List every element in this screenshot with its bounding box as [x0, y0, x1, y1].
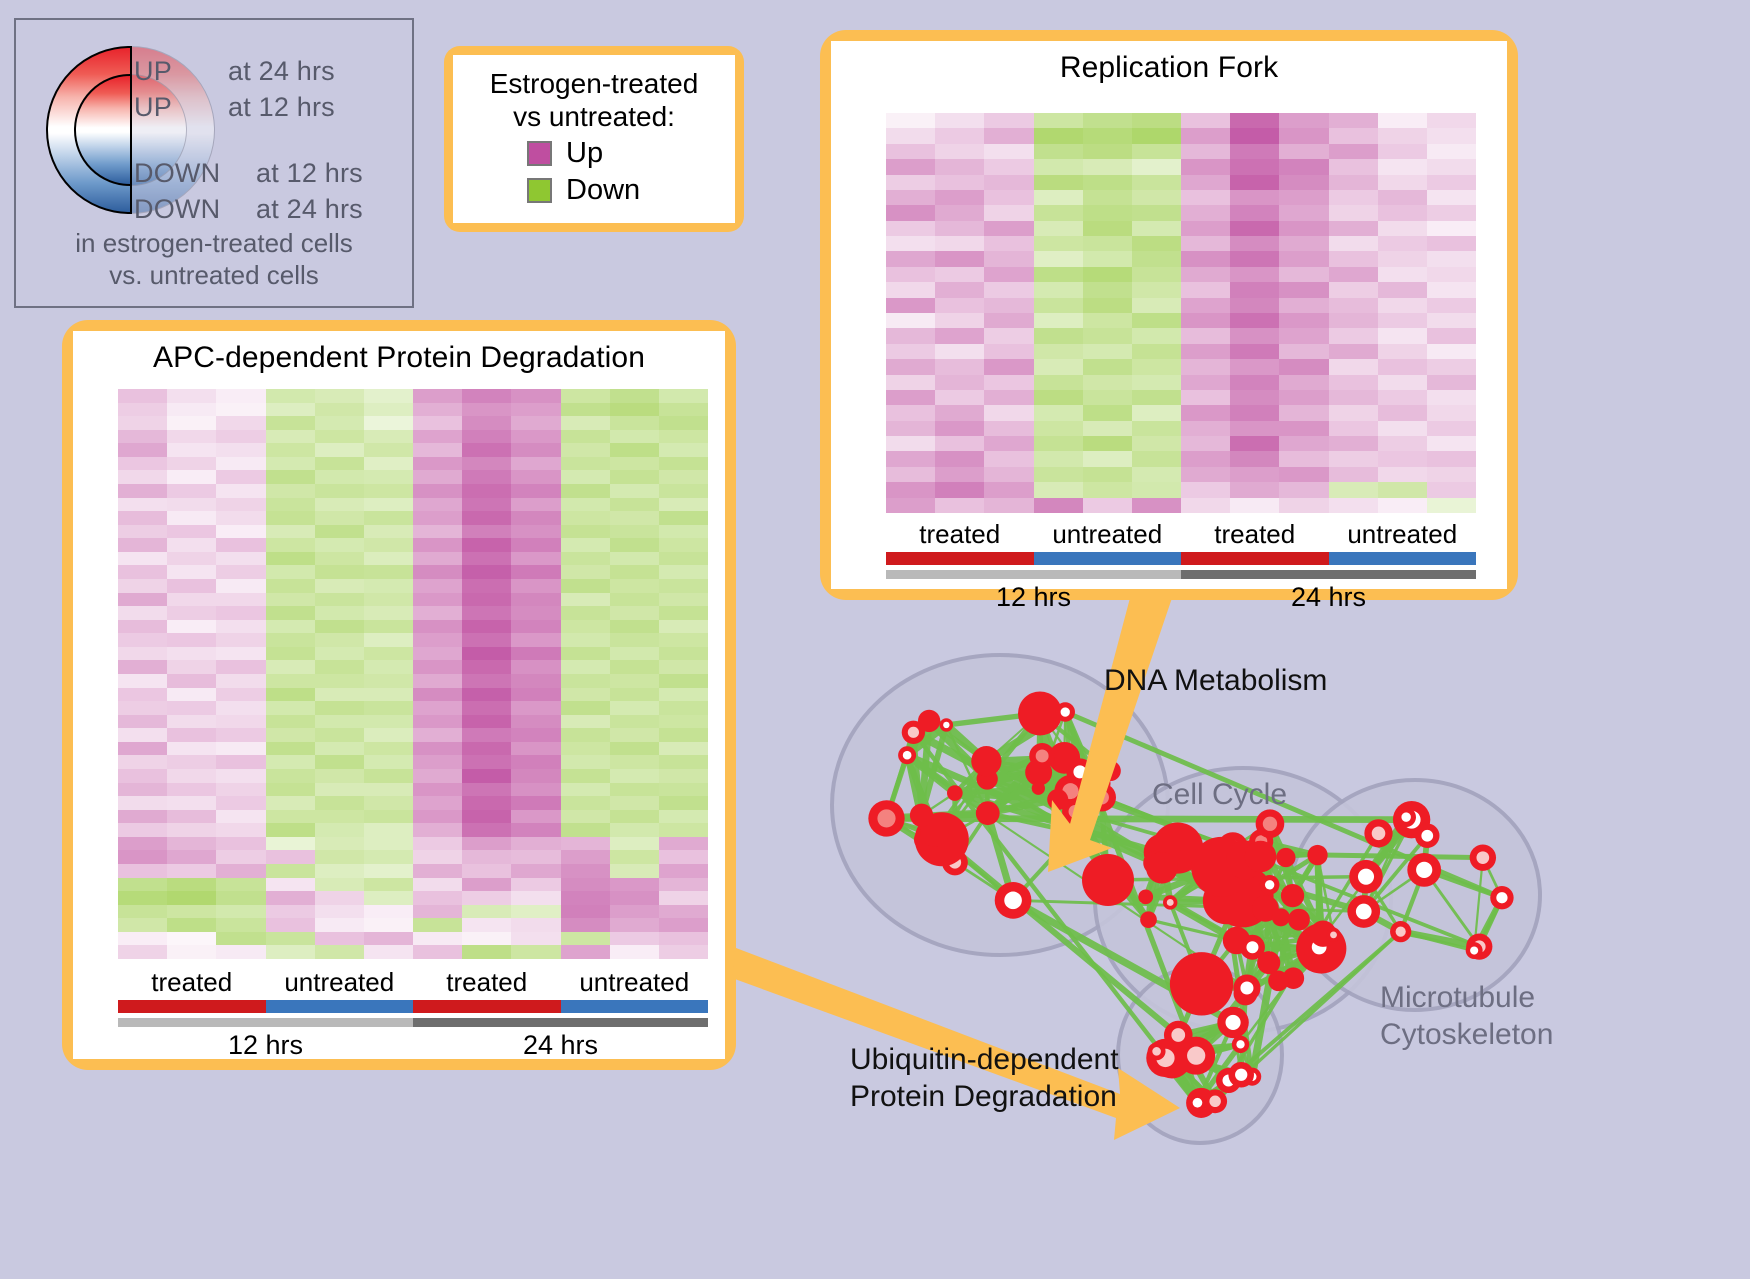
heatmap-cell: [1132, 205, 1181, 220]
heatmap-cell: [413, 728, 462, 742]
heatmap-cell: [1132, 144, 1181, 159]
heatmap-cell: [561, 742, 610, 756]
network-edge: [1178, 848, 1261, 857]
heatmap-cell: [167, 945, 216, 959]
network-edge: [1261, 841, 1299, 919]
network-edge: [1170, 1035, 1178, 1057]
network-node[interactable]: [1304, 932, 1335, 963]
heatmap-cell: [659, 742, 708, 756]
network-node[interactable]: [976, 801, 1000, 825]
heatmap-cell: [1083, 128, 1132, 143]
network-node[interactable]: [1217, 832, 1248, 863]
heatmap-cell: [561, 688, 610, 702]
heatmap-cell: [266, 837, 315, 851]
network-edge: [1042, 756, 1070, 791]
heatmap-cell: [610, 823, 659, 837]
network-edge: [1233, 1022, 1241, 1074]
heatmap-cell: [462, 430, 511, 444]
axis-cond-3-rep: untreated: [1329, 519, 1477, 550]
heatmap-cell: [984, 482, 1033, 497]
network-node[interactable]: [1466, 934, 1492, 960]
heatmap-cell: [364, 538, 413, 552]
heatmap-cell: [561, 647, 610, 661]
heatmap-cell: [1329, 159, 1378, 174]
heatmap-cell: [1378, 205, 1427, 220]
heatmap-cell: [886, 405, 935, 420]
network-node[interactable]: [1148, 1042, 1166, 1060]
heatmap-cell: [1181, 359, 1230, 374]
key-row-up: Up: [527, 137, 721, 170]
network-edge: [929, 721, 987, 779]
heatmap-cell: [1279, 221, 1328, 236]
network-node[interactable]: [1223, 927, 1251, 955]
network-edge: [1202, 984, 1247, 988]
heatmap-cell: [1181, 498, 1230, 513]
heatmap-cell: [118, 606, 167, 620]
network-edge: [1270, 885, 1322, 949]
network-edge: [1215, 833, 1378, 1101]
network-node[interactable]: [1272, 908, 1290, 926]
network-edge: [1252, 935, 1333, 947]
heatmap-cell: [886, 482, 935, 497]
heatmap-cell: [315, 457, 364, 471]
network-node[interactable]: [1217, 1007, 1248, 1038]
network-edge: [1072, 797, 1102, 839]
network-node[interactable]: [1364, 819, 1392, 847]
heatmap-cell: [511, 389, 560, 403]
network-node[interactable]: [1101, 761, 1121, 781]
heatmap-cell: [167, 701, 216, 715]
heatmap-cell: [167, 783, 216, 797]
heatmap-cell: [266, 932, 315, 946]
network-node[interactable]: [1470, 844, 1496, 870]
network-node[interactable]: [1249, 829, 1273, 853]
network-edge: [1040, 713, 1111, 770]
network-node[interactable]: [1281, 884, 1304, 907]
axis-bar-treated-12-rep: [886, 552, 1034, 565]
network-node[interactable]: [1029, 743, 1055, 769]
network-node[interactable]: [940, 718, 953, 731]
network-node[interactable]: [1396, 807, 1416, 827]
network-node[interactable]: [1349, 860, 1383, 894]
network-edge: [1401, 870, 1425, 932]
network-edge: [1261, 841, 1269, 884]
network-edge: [1318, 855, 1320, 947]
heatmap-cell: [984, 328, 1033, 343]
network-node[interactable]: [1186, 1088, 1216, 1118]
heatmap-cell: [1378, 405, 1427, 420]
network-node[interactable]: [915, 812, 969, 866]
network-edge: [1155, 863, 1226, 901]
heatmap-cell: [1378, 190, 1427, 205]
network-edge: [1170, 902, 1252, 947]
network-node[interactable]: [1326, 928, 1340, 942]
wheel-legend-footer-line2: vs. untreated cells: [16, 260, 412, 292]
heatmap-cell: [1279, 451, 1328, 466]
wheel-time-down24: at 24 hrs: [256, 194, 363, 225]
heatmap-cell: [1279, 482, 1328, 497]
heatmap-cell: [462, 837, 511, 851]
heatmap-cell: [1132, 221, 1181, 236]
network-edge: [1157, 1051, 1253, 1076]
heatmap-cell: [561, 538, 610, 552]
network-edge: [1252, 947, 1321, 948]
network-edge: [1075, 832, 1108, 880]
heatmap-cell: [216, 823, 265, 837]
network-node[interactable]: [1268, 971, 1289, 992]
network-edge: [922, 813, 988, 815]
heatmap-cell: [511, 538, 560, 552]
cluster-label-ub-line2: Protein Degradation: [850, 1079, 1119, 1116]
network-node[interactable]: [1163, 895, 1177, 909]
axis-condition-bar-apc: [118, 1000, 708, 1013]
heatmap-cell: [315, 389, 364, 403]
heatmap-cell: [1083, 498, 1132, 513]
heatmap-cell: [984, 344, 1033, 359]
network-edge: [1270, 885, 1299, 920]
network-node[interactable]: [1257, 951, 1280, 974]
heatmap-cell: [315, 728, 364, 742]
heatmap-cell: [511, 918, 560, 932]
heatmap-cell: [935, 190, 984, 205]
heatmap-cell: [1181, 113, 1230, 128]
network-edge: [1364, 817, 1406, 911]
network-node[interactable]: [1054, 775, 1086, 807]
network-edge: [1226, 841, 1261, 900]
network-node[interactable]: [1088, 772, 1110, 794]
network-edge: [907, 755, 988, 813]
heatmap-cell: [984, 221, 1033, 236]
heatmap-cell: [886, 375, 935, 390]
heatmap-cell: [167, 457, 216, 471]
heatmap-cell: [266, 633, 315, 647]
network-edge: [1038, 772, 1080, 788]
network-edge: [1237, 917, 1281, 940]
network-edge: [887, 818, 935, 832]
heatmap-cell: [561, 552, 610, 566]
heatmap-cell: [511, 728, 560, 742]
network-node[interactable]: [1018, 691, 1062, 735]
network-edge: [1108, 877, 1366, 880]
axis-apc-degradation: treated untreated treated untreated 12 h: [118, 967, 708, 1061]
network-edge: [1221, 824, 1270, 867]
network-node[interactable]: [868, 800, 904, 836]
network-node[interactable]: [1155, 1041, 1186, 1072]
network-node[interactable]: [1025, 759, 1052, 786]
heatmap-cell: [266, 688, 315, 702]
heatmap-cell: [1132, 467, 1181, 482]
network-edge: [1281, 917, 1294, 978]
network-edge: [1243, 896, 1279, 980]
heatmap-cell: [364, 945, 413, 959]
heatmap-cell: [1230, 405, 1279, 420]
network-node[interactable]: [1415, 823, 1439, 847]
network-edge: [1038, 712, 1065, 788]
heatmap-cell: [216, 905, 265, 919]
figure-canvas: UP at 24 hrs UP at 12 hrs DOWN at 12 hrs…: [0, 0, 1750, 1279]
network-node[interactable]: [1140, 911, 1157, 928]
network-node[interactable]: [1187, 1093, 1207, 1113]
heatmap-cell: [511, 715, 560, 729]
heatmap-cell: [935, 144, 984, 159]
network-edge: [1221, 867, 1265, 909]
heatmap-cell: [1378, 313, 1427, 328]
heatmap-cell: [1427, 113, 1476, 128]
network-edge: [988, 756, 1042, 813]
network-node[interactable]: [920, 818, 949, 847]
network-edge: [1233, 848, 1270, 885]
heatmap-cell: [315, 783, 364, 797]
network-node[interactable]: [1252, 895, 1279, 922]
heatmap-cell: [1329, 128, 1378, 143]
heatmap-cell: [886, 190, 935, 205]
network-edge: [1286, 858, 1299, 920]
network-node[interactable]: [1243, 1068, 1261, 1086]
network-edge: [1243, 896, 1253, 947]
network-node[interactable]: [1307, 845, 1327, 865]
network-edge: [1040, 713, 1042, 755]
heatmap-cell: [315, 498, 364, 512]
network-edge: [1080, 772, 1102, 798]
network-node[interactable]: [1407, 853, 1441, 887]
network-node[interactable]: [1228, 1062, 1254, 1088]
network-edge: [1039, 758, 1065, 773]
network-node[interactable]: [947, 785, 963, 801]
network-node[interactable]: [1066, 822, 1086, 842]
heatmap-cell: [935, 128, 984, 143]
heatmap-cell: [935, 344, 984, 359]
network-node[interactable]: [1164, 1021, 1193, 1050]
heatmap-cell: [1034, 298, 1083, 313]
heatmap-cell: [118, 538, 167, 552]
network-node[interactable]: [1153, 1040, 1191, 1078]
network-edge: [1401, 932, 1480, 947]
heatmap-cell: [1329, 344, 1378, 359]
network-node[interactable]: [1393, 801, 1430, 838]
network-edge: [1215, 1080, 1228, 1101]
network-node[interactable]: [1234, 981, 1258, 1005]
network-edge: [1474, 898, 1502, 951]
network-node[interactable]: [1170, 952, 1233, 1015]
network-edge: [887, 732, 914, 818]
heatmap-cell: [413, 606, 462, 620]
heatmap-cell: [315, 878, 364, 892]
heatmap-cell: [216, 633, 265, 647]
network-node[interactable]: [1191, 837, 1251, 897]
network-edge: [1221, 857, 1260, 867]
network-node[interactable]: [1256, 809, 1285, 838]
network-node[interactable]: [971, 746, 1001, 776]
network-edge: [1201, 1077, 1252, 1103]
network-edge: [1252, 917, 1280, 947]
heatmap-cell: [1378, 498, 1427, 513]
heatmap-cell: [167, 403, 216, 417]
network-node[interactable]: [1055, 702, 1074, 721]
network-edge: [987, 772, 1080, 779]
network-node[interactable]: [1047, 789, 1068, 810]
heatmap-cell: [364, 430, 413, 444]
network-node[interactable]: [1276, 848, 1295, 867]
network-node[interactable]: [1066, 758, 1093, 785]
network-edge: [955, 813, 988, 862]
heatmap-cell: [315, 701, 364, 715]
network-node[interactable]: [977, 768, 998, 789]
heatmap-cell: [1279, 467, 1328, 482]
network-node[interactable]: [1288, 909, 1310, 931]
heatmap-cell: [266, 498, 315, 512]
network-node[interactable]: [1032, 782, 1045, 795]
heatmap-cell: [315, 715, 364, 729]
network-node[interactable]: [1177, 1037, 1215, 1075]
heatmap-cell: [1181, 267, 1230, 282]
heatmap-cell: [413, 932, 462, 946]
heatmap-cell: [610, 688, 659, 702]
heatmap-cell: [1329, 205, 1378, 220]
network-node[interactable]: [1490, 886, 1513, 909]
network-node[interactable]: [1216, 1068, 1241, 1093]
network-edge: [987, 779, 1058, 800]
network-edge: [1237, 934, 1323, 941]
network-edge: [1196, 1056, 1228, 1081]
heatmap-cell: [167, 837, 216, 851]
network-node[interactable]: [1146, 852, 1178, 884]
network-edge: [1252, 947, 1278, 981]
network-edge: [988, 791, 1071, 813]
network-edge: [1243, 885, 1270, 897]
network-node[interactable]: [1240, 935, 1265, 960]
network-node[interactable]: [1296, 923, 1346, 973]
network-node[interactable]: [1203, 1089, 1227, 1113]
heatmap-cell: [511, 620, 560, 634]
network-node[interactable]: [1048, 742, 1080, 774]
network-edge: [1058, 772, 1080, 800]
network-node[interactable]: [910, 804, 933, 827]
heatmap-cell: [315, 647, 364, 661]
network-edge: [1058, 797, 1102, 799]
heatmap-cell: [266, 742, 315, 756]
network-node[interactable]: [942, 849, 968, 875]
heatmap-cell: [886, 390, 935, 405]
network-edge: [1064, 758, 1099, 784]
network-edge: [988, 758, 1065, 813]
heatmap-cell: [886, 298, 935, 313]
heatmap-cell: [167, 498, 216, 512]
heatmap-cell: [118, 796, 167, 810]
network-node[interactable]: [1138, 889, 1153, 904]
network-edge: [1039, 772, 1072, 839]
heatmap-cell: [1378, 436, 1427, 451]
heatmap-cell: [462, 660, 511, 674]
heatmap-cell: [1230, 482, 1279, 497]
network-node[interactable]: [1226, 840, 1265, 879]
heatmap-cell: [1329, 467, 1378, 482]
network-edge: [1265, 858, 1285, 909]
network-edge: [1064, 712, 1065, 758]
network-edge: [1178, 1035, 1215, 1101]
network-node[interactable]: [1245, 841, 1277, 873]
heatmap-cell: [118, 918, 167, 932]
heatmap-cell: [413, 864, 462, 878]
network-node[interactable]: [1347, 895, 1380, 928]
network-node[interactable]: [898, 746, 916, 764]
network-node[interactable]: [918, 710, 940, 732]
network-node[interactable]: [1088, 783, 1116, 811]
heatmap-cell: [511, 945, 560, 959]
heatmap-cell: [659, 470, 708, 484]
heatmap-cell: [216, 688, 265, 702]
network-node[interactable]: [1390, 921, 1411, 942]
heatmap-cell: [364, 674, 413, 688]
network-node[interactable]: [1143, 851, 1167, 875]
network-edge: [1237, 940, 1322, 948]
network-node[interactable]: [1233, 974, 1260, 1001]
network-node[interactable]: [1152, 822, 1203, 873]
network-node[interactable]: [1211, 865, 1273, 927]
heatmap-cell: [315, 593, 364, 607]
heatmap-cell: [413, 742, 462, 756]
heatmap-cell: [659, 430, 708, 444]
heatmap-cell: [1279, 421, 1328, 436]
network-node[interactable]: [1065, 833, 1080, 848]
heatmap-cell: [167, 470, 216, 484]
heatmap-cell: [266, 674, 315, 688]
network-node[interactable]: [1144, 834, 1181, 871]
heatmap-cell: [1427, 175, 1476, 190]
heatmap-cell: [167, 891, 216, 905]
heatmap-cell: [1378, 159, 1427, 174]
heatmap-cell: [216, 932, 265, 946]
network-node[interactable]: [995, 882, 1032, 919]
heatmap-cell: [118, 593, 167, 607]
axis-time-labels-rep: 12 hrs 24 hrs: [886, 582, 1476, 613]
heatmap-cell: [610, 674, 659, 688]
heatmap-cell: [511, 783, 560, 797]
heatmap-cell: [1279, 236, 1328, 251]
network-node[interactable]: [1232, 1036, 1249, 1053]
network-edge: [1269, 948, 1321, 962]
heatmap-cell: [167, 416, 216, 430]
network-edge: [1319, 934, 1323, 947]
network-node[interactable]: [1203, 877, 1250, 924]
network-node[interactable]: [1062, 799, 1088, 825]
network-edge: [1202, 978, 1294, 984]
heatmap-cell: [462, 538, 511, 552]
network-node[interactable]: [1146, 1039, 1184, 1077]
network-node[interactable]: [902, 721, 925, 744]
network-node[interactable]: [1082, 854, 1134, 906]
heatmap-cell: [413, 755, 462, 769]
network-edge: [1038, 788, 1057, 799]
heatmap-cell: [266, 823, 315, 837]
network-node[interactable]: [914, 829, 936, 851]
heatmap-cell: [1279, 251, 1328, 266]
axis-condition-bar-rep: [886, 552, 1476, 565]
network-edge: [922, 721, 930, 815]
network-node[interactable]: [1310, 920, 1336, 946]
network-node[interactable]: [1260, 875, 1280, 895]
key-label-up: Up: [566, 137, 603, 170]
network-edge: [1241, 993, 1245, 1074]
heatmap-cell: [266, 525, 315, 539]
network-edge: [1070, 791, 1075, 811]
heatmap-cell: [1181, 175, 1230, 190]
network-edge: [1178, 848, 1246, 860]
network-node[interactable]: [1283, 967, 1305, 989]
heatmap-cell: [1427, 436, 1476, 451]
heatmap-cell: [167, 511, 216, 525]
network-node[interactable]: [1466, 942, 1483, 959]
heatmap-cell: [216, 864, 265, 878]
